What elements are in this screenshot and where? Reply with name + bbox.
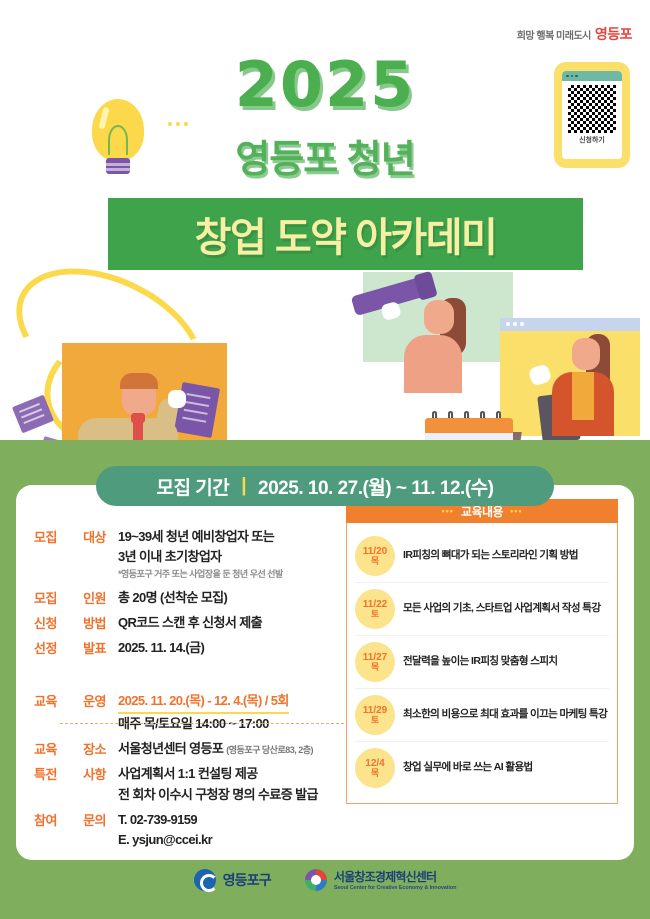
yeongdeungpo-logo-icon xyxy=(194,869,216,891)
logo-label: 서울창조경제혁신센터 xyxy=(334,868,457,885)
curriculum-item: 11/27 목 전달력을 높이는 IR피칭 맞춤형 스피치 xyxy=(355,636,609,689)
venue-address: (영등포구 당산로83, 2층) xyxy=(226,745,313,755)
poster-year: 2025 xyxy=(0,48,650,121)
contact-email[interactable]: E. ysjun@ccei.kr xyxy=(118,830,334,850)
curriculum-list: 11/20 목 IR피칭의 뼈대가 되는 스토리라인 기획 방법 11/22 토… xyxy=(346,523,618,804)
telescope-woman-head xyxy=(424,300,454,334)
poster-title: 창업 도약 아카데미 xyxy=(108,198,583,270)
info-value-line: 매주 목/토요일 14:00 ~ 17:00 xyxy=(118,714,334,734)
businessman-hand xyxy=(168,390,186,408)
presenter-top xyxy=(572,372,594,420)
recruitment-period-label: 모집 기간 xyxy=(157,473,230,500)
brand-name: 영등포 xyxy=(595,24,632,44)
ccei-logo-icon xyxy=(305,869,327,891)
curriculum-panel: ••• 교육내용 ••• 11/20 목 IR피칭의 뼈대가 되는 스토리라인 … xyxy=(346,499,618,804)
session-title: 최소한의 비용으로 최대 효과를 이끄는 마케팅 특강 xyxy=(403,708,607,722)
curriculum-item: 11/20 목 IR피칭의 뼈대가 되는 스토리라인 기획 방법 xyxy=(355,530,609,583)
session-date-badge: 11/20 목 xyxy=(355,536,395,576)
session-day: 목 xyxy=(371,769,379,779)
curriculum-item: 12/4 목 창업 실무에 바로 쓰는 AI 활용법 xyxy=(355,742,609,794)
info-label: 모집 대상 xyxy=(34,527,108,583)
info-row: 신청 방법 QR코드 스캔 후 신청서 제출 xyxy=(34,613,334,633)
poster-root: 희망 행복 미래도시 영등포 신청하기 2025 영등포 청년 창업 도약 아카… xyxy=(0,0,650,919)
businessman-hair xyxy=(120,373,158,389)
contact-phone[interactable]: T. 02-739-9159 xyxy=(118,810,334,830)
info-label: 선정 발표 xyxy=(34,638,108,658)
poster-footer: 영등포구 서울창조경제혁신센터 Seoul Center for Creativ… xyxy=(0,868,650,891)
info-row: 참여 문의 T. 02-739-9159 E. ysjun@ccei.kr xyxy=(34,810,334,850)
idea-sparkle-icon xyxy=(168,122,188,126)
info-label: 교육 운영 xyxy=(34,691,108,734)
logo-label: 영등포구 xyxy=(223,870,271,890)
info-row: 선정 발표 2025. 11. 14.(금) xyxy=(34,638,334,658)
info-row: 모집 대상 19~39세 청년 예비창업자 또는 3년 이내 초기창업자 *영등… xyxy=(34,527,334,583)
info-label: 특전 사항 xyxy=(34,764,108,804)
logo-yeongdeungpo-gu: 영등포구 xyxy=(194,869,271,891)
info-value-line: 사업계획서 1:1 컨설팅 제공 xyxy=(118,764,334,784)
info-label: 모집 인원 xyxy=(34,588,108,608)
info-value: QR코드 스캔 후 신청서 제출 xyxy=(108,613,334,633)
info-value-line: 19~39세 청년 예비창업자 또는 xyxy=(118,527,334,547)
info-value: 2025. 11. 14.(금) xyxy=(108,638,334,658)
calendar-header xyxy=(425,418,513,433)
info-value-line: 2025. 11. 14.(금) xyxy=(118,638,334,658)
ccei-logo-text: 서울창조경제혁신센터 Seoul Center for Creative Eco… xyxy=(334,868,457,891)
info-value: 서울청년센터 영등포 (영등포구 당산로83, 2층) xyxy=(108,739,334,759)
logo-sublabel: Seoul Center for Creative Economy & Inno… xyxy=(334,885,457,891)
brand-slogan: 희망 행복 미래도시 xyxy=(517,27,591,42)
session-date: 11/22 xyxy=(363,599,387,610)
info-footnote: *영등포구 거주 또는 사업장을 둔 청년 우선 선발 xyxy=(118,567,334,582)
info-value: 총 20명 (선착순 모집) xyxy=(108,588,334,608)
info-value: 19~39세 청년 예비창업자 또는 3년 이내 초기창업자 *영등포구 거주 … xyxy=(108,527,334,583)
dots-left-icon: ••• xyxy=(441,506,453,516)
session-date: 12/4 xyxy=(365,758,384,769)
session-day: 토 xyxy=(371,716,379,726)
info-value-line: QR코드 스캔 후 신청서 제출 xyxy=(118,613,334,633)
info-row: 모집 인원 총 20명 (선착순 모집) xyxy=(34,588,334,608)
info-value: T. 02-739-9159 E. ysjun@ccei.kr xyxy=(108,810,334,850)
session-date-badge: 12/4 목 xyxy=(355,748,395,788)
session-date: 11/27 xyxy=(363,652,387,663)
info-row: 교육 운영 2025. 11. 20.(목) - 12. 4.(목) / 5회 … xyxy=(34,691,334,734)
session-title: 창업 실무에 바로 쓰는 AI 활용법 xyxy=(403,761,533,775)
session-date: 11/29 xyxy=(363,705,387,716)
session-day: 목 xyxy=(371,557,379,567)
info-value-line: 전 회차 이수시 구청장 명의 수료증 발급 xyxy=(118,785,334,805)
section-divider xyxy=(60,723,344,724)
session-title: 모든 사업의 기초, 스타트업 사업계획서 작성 특강 xyxy=(403,602,600,616)
info-value: 2025. 11. 20.(목) - 12. 4.(목) / 5회 매주 목/토… xyxy=(108,691,334,734)
recruitment-period-banner: 모집 기간 | 2025. 10. 27.(월) ~ 11. 12.(수) xyxy=(96,466,554,506)
logo-seoul-ccei: 서울창조경제혁신센터 Seoul Center for Creative Eco… xyxy=(305,868,457,891)
window-dots-icon xyxy=(506,322,524,326)
session-date-badge: 11/22 토 xyxy=(355,589,395,629)
info-value-line: 서울청년센터 영등포 xyxy=(118,741,223,756)
info-list-primary: 모집 대상 19~39세 청년 예비창업자 또는 3년 이내 초기창업자 *영등… xyxy=(34,527,334,855)
info-value: 사업계획서 1:1 컨설팅 제공 전 회차 이수시 구청장 명의 수료증 발급 xyxy=(108,764,334,804)
details-card: 모집 대상 19~39세 청년 예비창업자 또는 3년 이내 초기창업자 *영등… xyxy=(16,485,634,860)
session-date-badge: 11/27 목 xyxy=(355,642,395,682)
info-label: 교육 장소 xyxy=(34,739,108,759)
poster-title-banner: 창업 도약 아카데미 xyxy=(108,198,583,270)
district-brand-lockup: 희망 행복 미래도시 영등포 xyxy=(517,24,632,44)
session-date-badge: 11/29 토 xyxy=(355,695,395,735)
curriculum-item: 11/29 토 최소한의 비용으로 최대 효과를 이끄는 마케팅 특강 xyxy=(355,689,609,742)
session-day: 토 xyxy=(371,610,379,620)
info-row: 교육 장소 서울청년센터 영등포 (영등포구 당산로83, 2층) xyxy=(34,739,334,759)
session-date: 11/20 xyxy=(363,546,387,557)
telescope-woman-illustration xyxy=(404,335,462,393)
training-schedule-highlight: 2025. 11. 20.(목) - 12. 4.(목) / 5회 xyxy=(118,691,289,714)
info-value-line: 총 20명 (선착순 모집) xyxy=(118,588,334,608)
curriculum-item: 11/22 토 모든 사업의 기초, 스타트업 사업계획서 작성 특강 xyxy=(355,583,609,636)
session-title: 전달력을 높이는 IR피칭 맞춤형 스피치 xyxy=(403,655,557,669)
poster-subtitle: 영등포 청년 xyxy=(0,128,650,183)
session-title: IR피칭의 뼈대가 되는 스토리라인 기획 방법 xyxy=(403,549,578,563)
info-value-line: 3년 이내 초기창업자 xyxy=(118,547,334,567)
period-separator: | xyxy=(241,475,246,497)
info-label: 참여 문의 xyxy=(34,810,108,850)
session-day: 목 xyxy=(371,663,379,673)
presenter-head xyxy=(572,338,600,370)
recruitment-period-value: 2025. 10. 27.(월) ~ 11. 12.(수) xyxy=(258,473,493,500)
poster-header-area: 희망 행복 미래도시 영등포 신청하기 2025 영등포 청년 창업 도약 아카… xyxy=(0,0,650,452)
info-label: 신청 방법 xyxy=(34,613,108,633)
dots-right-icon: ••• xyxy=(510,506,522,516)
info-row: 특전 사항 사업계획서 1:1 컨설팅 제공 전 회차 이수시 구청장 명의 수… xyxy=(34,764,334,804)
